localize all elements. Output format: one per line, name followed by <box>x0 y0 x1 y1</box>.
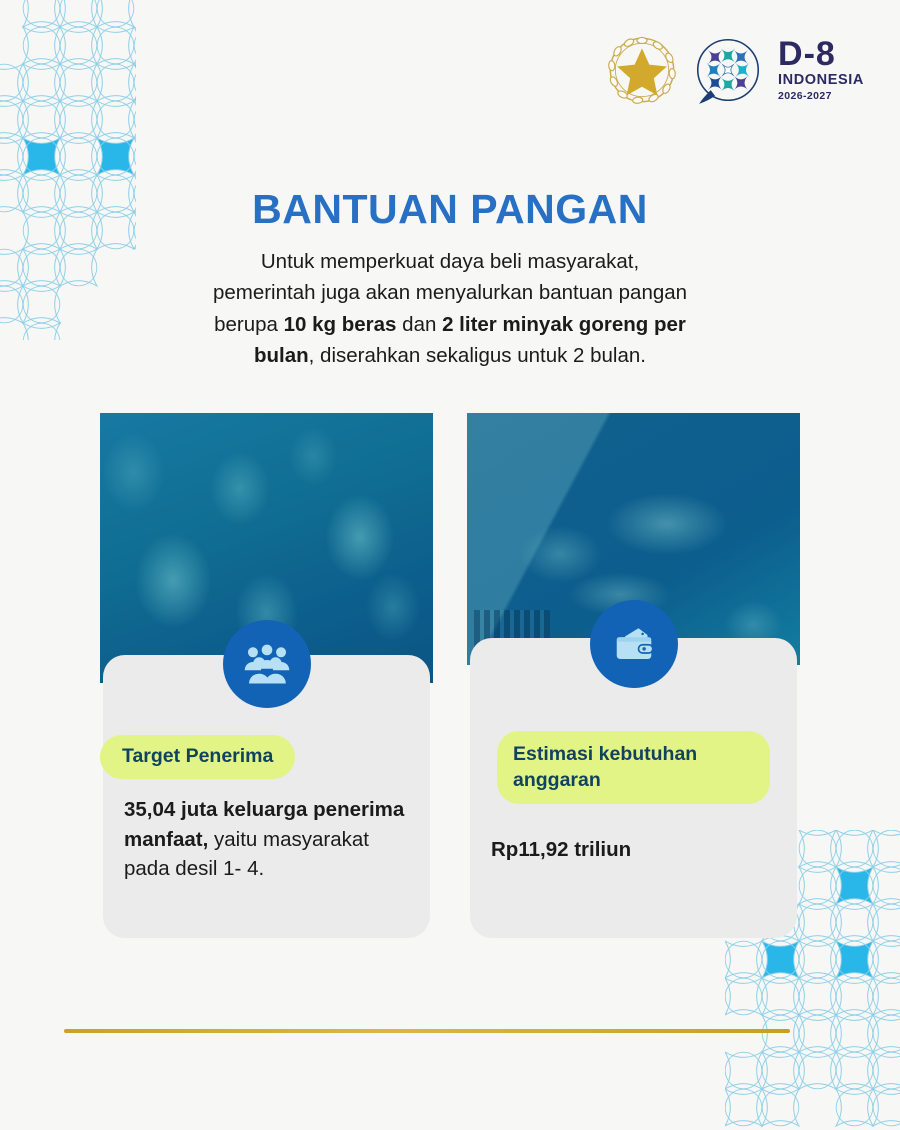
status-badge: Estimasi kebutuhan anggaran <box>497 731 770 804</box>
intro-line-3-pre: berupa <box>214 313 284 336</box>
footer-divider <box>64 1029 790 1033</box>
wordmark-country: INDONESIA <box>778 73 864 88</box>
intro-bold-bulan: bulan <box>254 344 309 367</box>
gold-star-emblem-icon <box>606 34 678 106</box>
intro-line-1: Untuk memperkuat daya beli masyarakat, <box>261 250 639 273</box>
wordmark-years: 2026-2027 <box>778 91 832 102</box>
intro-line-3-mid: dan <box>396 313 442 336</box>
card-body: Rp11,92 triliun <box>491 835 776 865</box>
d8-emblem-icon <box>692 34 764 106</box>
badge-wrap: Estimasi kebutuhan anggaran <box>497 731 770 804</box>
intro-bold-beras: 10 kg beras <box>284 313 397 336</box>
card-body-bold: Rp11,92 triliun <box>491 838 631 861</box>
lattice-pattern-left <box>0 0 136 340</box>
intro-line-4-post: , diserahkan sekaligus untuk 2 bulan. <box>309 344 646 367</box>
status-badge: Target Penerima <box>100 735 295 779</box>
badge-wrap: Target Penerima <box>100 735 433 779</box>
intro-bold-minyak: 2 liter minyak goreng per <box>442 313 686 336</box>
intro-paragraph: Untuk memperkuat daya beli masyarakat, p… <box>150 246 750 371</box>
people-group-icon <box>223 620 311 708</box>
card-body: 35,04 juta keluarga penerima manfaat, ya… <box>124 795 409 884</box>
d8-wordmark: D-8 INDONESIA 2026-2027 <box>778 39 864 101</box>
logo-bar: D-8 INDONESIA 2026-2027 <box>606 34 864 106</box>
intro-line-2: pemerintah juga akan menyalurkan bantuan… <box>213 281 687 304</box>
wallet-icon <box>590 600 678 688</box>
card-estimasi-anggaran: Estimasi kebutuhan anggaran Rp11,92 tril… <box>467 413 800 938</box>
wordmark-title: D-8 <box>778 39 836 70</box>
card-target-penerima: Target Penerima 35,04 juta keluarga pene… <box>100 413 433 938</box>
page-title: BANTUAN PANGAN <box>0 186 900 233</box>
